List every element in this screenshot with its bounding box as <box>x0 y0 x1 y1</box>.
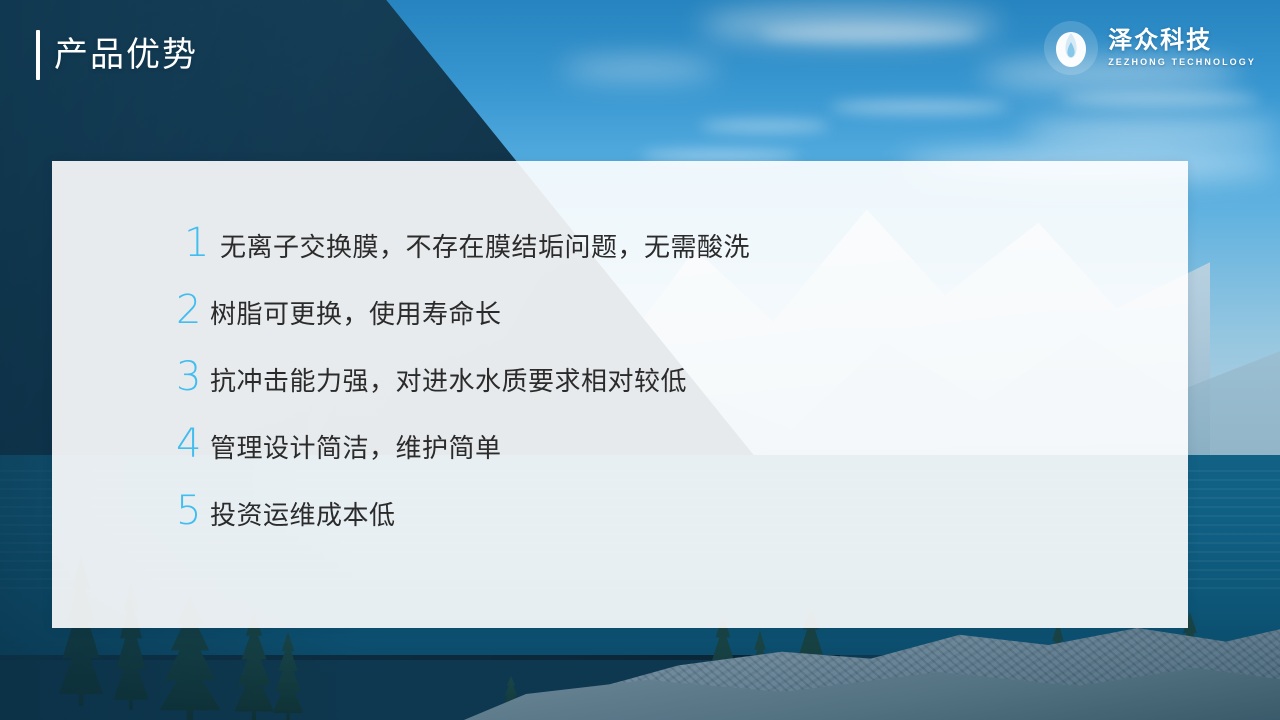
list-item: 1 无离子交换膜，不存在膜结垢问题，无需酸洗 <box>176 223 750 290</box>
list-item-number: 3 <box>176 357 210 397</box>
list-item: 3 抗冲击能力强，对进水水质要求相对较低 <box>176 357 750 424</box>
list-item-text: 抗冲击能力强，对进水水质要求相对较低 <box>210 368 687 394</box>
list-item: 4 管理设计简洁，维护简单 <box>176 424 750 491</box>
cloud-shape <box>1020 118 1280 144</box>
list-item: 5 投资运维成本低 <box>176 491 750 558</box>
page-title-group: 产品优势 <box>36 30 198 80</box>
cloud-shape <box>700 120 830 132</box>
cloud-shape <box>760 26 980 42</box>
list-item-number: 4 <box>176 424 210 464</box>
lotus-droplet-logo-icon <box>1043 20 1099 76</box>
cloud-shape <box>560 60 720 78</box>
list-item-number: 2 <box>176 290 210 330</box>
page-title: 产品优势 <box>54 38 198 72</box>
brand-logo-text: 泽众科技 ZEZHONG TECHNOLOGY <box>1108 29 1256 67</box>
slide: 产品优势 泽众科技 ZEZHONG TECHNOLOGY 1 无离子交换膜，不存… <box>0 0 1280 720</box>
list-item-text: 管理设计简洁，维护简单 <box>210 435 502 461</box>
cloud-shape <box>1060 92 1260 106</box>
brand-name-cn: 泽众科技 <box>1108 29 1256 53</box>
content-panel: 1 无离子交换膜，不存在膜结垢问题，无需酸洗 2 树脂可更换，使用寿命长 3 抗… <box>52 161 1188 628</box>
brand-name-en: ZEZHONG TECHNOLOGY <box>1108 58 1256 67</box>
list-item-number: 1 <box>176 223 218 263</box>
list-item-number: 5 <box>176 491 210 531</box>
title-accent-bar <box>36 30 40 80</box>
list-item: 2 树脂可更换，使用寿命长 <box>176 290 750 357</box>
list-item-text: 树脂可更换，使用寿命长 <box>210 301 502 327</box>
cloud-shape <box>830 100 1010 114</box>
list-item-text: 投资运维成本低 <box>210 502 396 528</box>
advantage-list: 1 无离子交换膜，不存在膜结垢问题，无需酸洗 2 树脂可更换，使用寿命长 3 抗… <box>176 223 750 558</box>
list-item-text: 无离子交换膜，不存在膜结垢问题，无需酸洗 <box>218 234 750 260</box>
brand-logo: 泽众科技 ZEZHONG TECHNOLOGY <box>1043 20 1256 76</box>
